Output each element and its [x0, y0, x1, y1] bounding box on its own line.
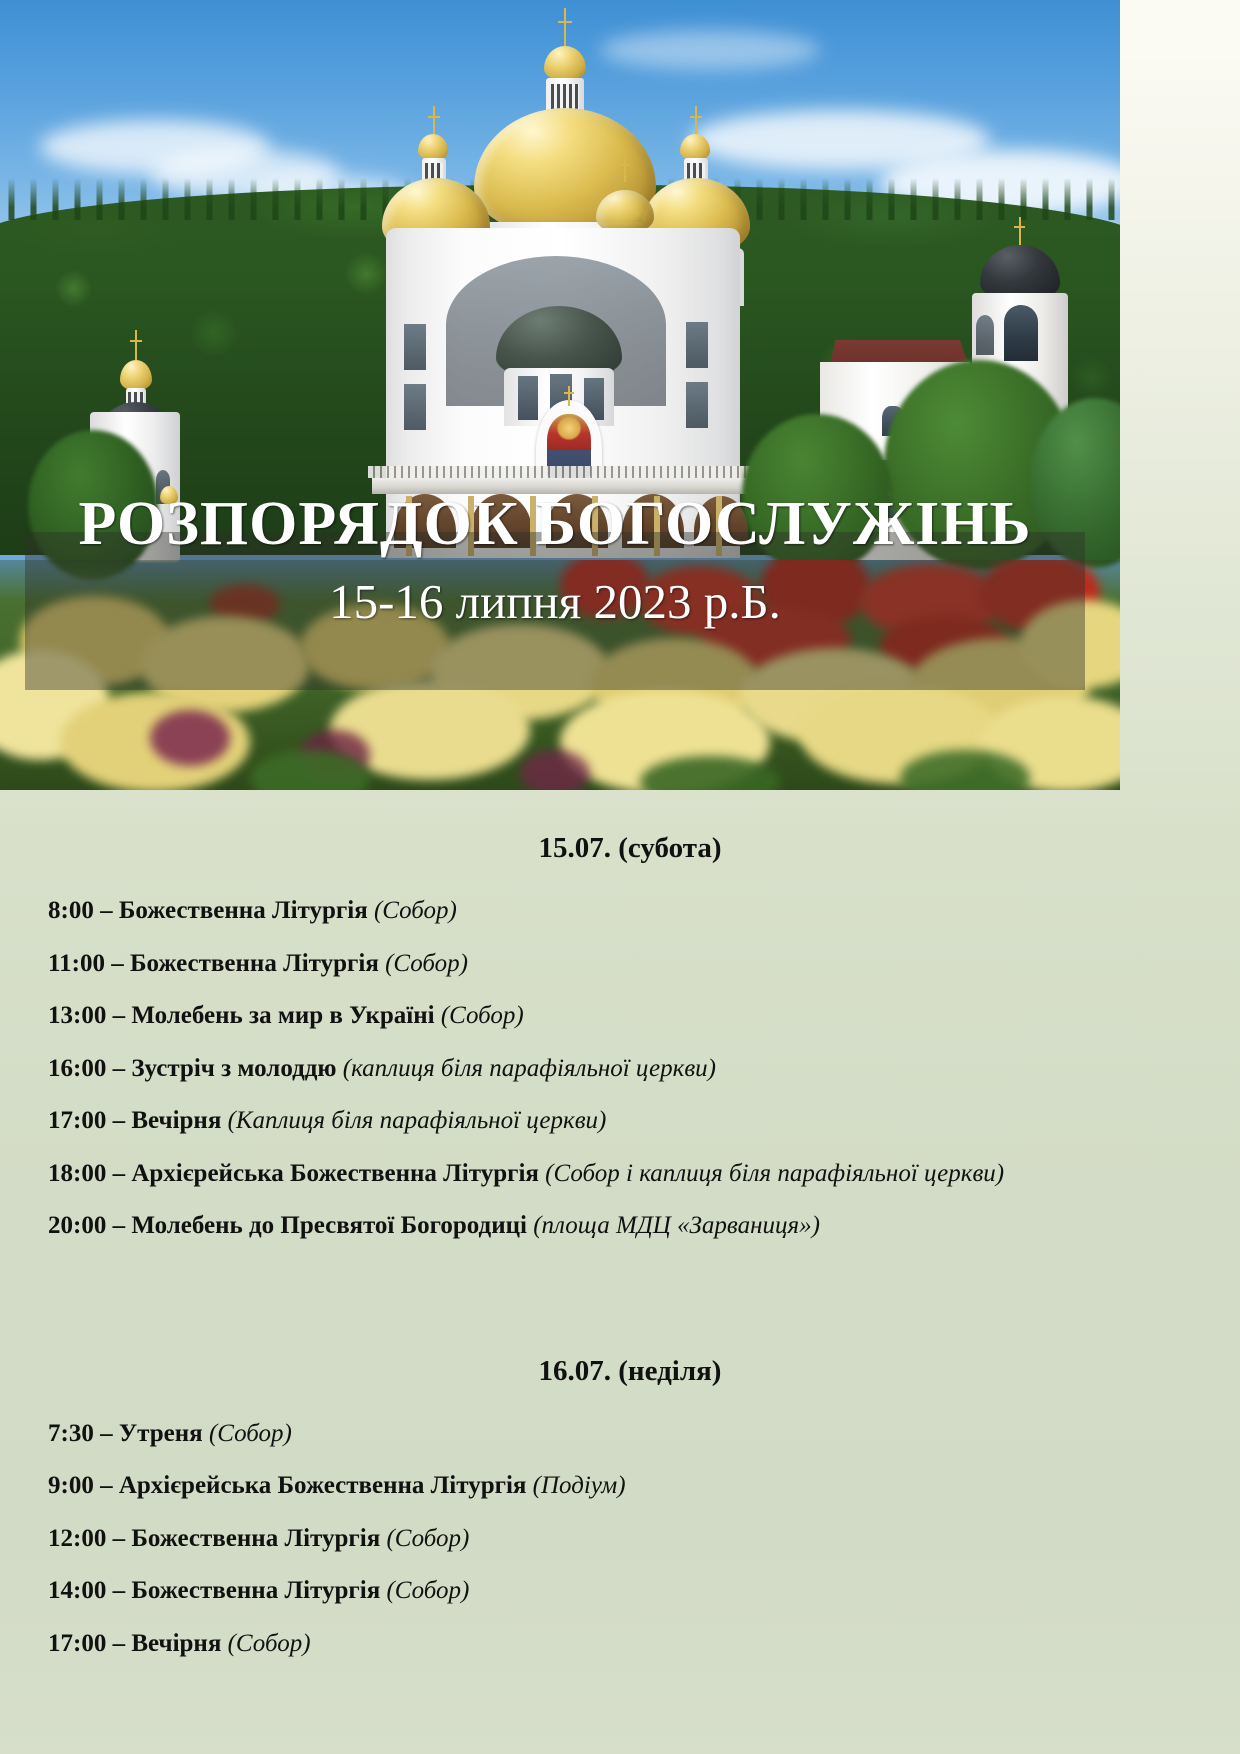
- window: [404, 384, 426, 430]
- poster-page: РОЗПОРЯДОК БОГОСЛУЖІНЬ 15-16 липня 2023 …: [0, 0, 1240, 1754]
- balustrade: [368, 466, 758, 478]
- schedule-item: 16:00 – Зустріч з молоддю (каплиця біля …: [0, 1053, 1240, 1086]
- schedule-item: 13:00 – Молебень за мир в Україні (Собор…: [0, 1000, 1240, 1033]
- schedule-item: 17:00 – Вечірня (Каплиця біля парафіяльн…: [0, 1105, 1240, 1138]
- item-event: Вечірня: [131, 1107, 221, 1134]
- item-location: (площа МДЦ «Зарваниця»): [533, 1212, 820, 1239]
- item-location: (Собор): [209, 1420, 292, 1447]
- cross-icon: [558, 8, 572, 50]
- item-location: (Собор): [386, 1577, 469, 1604]
- cupola: [418, 134, 448, 160]
- item-location: (Собор): [386, 1525, 469, 1552]
- window: [976, 315, 994, 355]
- item-dash: –: [106, 1212, 131, 1239]
- item-event: Божественна Літургія: [119, 897, 368, 924]
- item-dash: –: [106, 1577, 131, 1604]
- cross-icon: [1014, 217, 1025, 247]
- item-dash: –: [94, 1420, 119, 1447]
- item-location: (Собор): [228, 1630, 311, 1657]
- schedule-item: 11:00 – Божественна Літургія (Собор): [0, 948, 1240, 981]
- item-event: Утреня: [119, 1420, 203, 1447]
- item-dash: –: [106, 1055, 131, 1082]
- schedule-item: 12:00 – Божественна Літургія (Собор): [0, 1523, 1240, 1556]
- item-time: 17:00: [48, 1107, 106, 1134]
- schedule-list-sunday: 7:30 – Утреня (Собор) 9:00 – Архієрейськ…: [0, 1418, 1240, 1661]
- item-dash: –: [106, 1160, 131, 1187]
- item-dash: –: [94, 1472, 119, 1499]
- day-heading-sunday: 16.07. (неділя): [0, 1355, 1240, 1388]
- cross-icon: [564, 386, 574, 406]
- day-heading-saturday: 15.07. (субота): [0, 832, 1240, 865]
- window: [1004, 305, 1038, 361]
- item-location: (Собор і каплиця біля парафіяльної церкв…: [545, 1160, 1004, 1187]
- cupola: [680, 134, 710, 160]
- item-time: 18:00: [48, 1160, 106, 1187]
- item-event: Божественна Літургія: [131, 1577, 380, 1604]
- item-time: 7:30: [48, 1420, 94, 1447]
- schedule-item: 20:00 – Молебень до Пресвятої Богородиці…: [0, 1210, 1240, 1243]
- item-time: 9:00: [48, 1472, 94, 1499]
- window: [686, 322, 708, 368]
- item-location: (Каплиця біля парафіяльної церкви): [228, 1107, 607, 1134]
- schedule-item: 8:00 – Божественна Літургія (Собор): [0, 895, 1240, 928]
- item-event: Молебень до Пресвятої Богородиці: [131, 1212, 527, 1239]
- item-time: 12:00: [48, 1525, 106, 1552]
- item-event: Божественна Літургія: [130, 950, 379, 977]
- item-location: (Собор): [385, 950, 468, 977]
- window: [518, 376, 538, 420]
- schedule-item: 18:00 – Архієрейська Божественна Літургі…: [0, 1158, 1240, 1191]
- item-dash: –: [106, 1002, 131, 1029]
- item-event: Молебень за мир в Україні: [131, 1002, 434, 1029]
- item-event: Зустріч з молоддю: [131, 1055, 336, 1082]
- item-dash: –: [106, 1630, 131, 1657]
- schedule-item: 9:00 – Архієрейська Божественна Літургія…: [0, 1470, 1240, 1503]
- schedule-item: 7:30 – Утреня (Собор): [0, 1418, 1240, 1451]
- item-location: (Собор): [374, 897, 457, 924]
- item-time: 14:00: [48, 1577, 106, 1604]
- item-dash: –: [106, 1525, 131, 1552]
- item-time: 16:00: [48, 1055, 106, 1082]
- item-dash: –: [105, 950, 130, 977]
- cross-icon: [620, 156, 630, 182]
- title-overlay: РОЗПОРЯДОК БОГОСЛУЖІНЬ 15-16 липня 2023 …: [25, 532, 1085, 690]
- window: [404, 324, 426, 370]
- cathedral: [368, 60, 758, 560]
- schedule-content: 15.07. (субота) 8:00 – Божественна Літур…: [0, 790, 1240, 1660]
- item-event: Вечірня: [131, 1630, 221, 1657]
- schedule-item: 14:00 – Божественна Літургія (Собор): [0, 1575, 1240, 1608]
- item-time: 8:00: [48, 897, 94, 924]
- item-location: (Собор): [441, 1002, 524, 1029]
- item-dash: –: [94, 897, 119, 924]
- schedule-list-saturday: 8:00 – Божественна Літургія (Собор) 11:0…: [0, 895, 1240, 1243]
- cathedral-photo: РОЗПОРЯДОК БОГОСЛУЖІНЬ 15-16 липня 2023 …: [0, 0, 1120, 790]
- page-title: РОЗПОРЯДОК БОГОСЛУЖІНЬ: [78, 492, 1031, 557]
- cupola: [120, 360, 152, 390]
- schedule-item: 17:00 – Вечірня (Собор): [0, 1628, 1240, 1661]
- item-time: 11:00: [48, 950, 105, 977]
- item-time: 13:00: [48, 1002, 106, 1029]
- item-event: Божественна Літургія: [131, 1525, 380, 1552]
- window: [686, 382, 708, 428]
- cross-icon: [130, 330, 142, 364]
- page-subtitle: 15-16 липня 2023 р.Б.: [329, 573, 781, 630]
- item-location: (каплиця біля парафіяльної церкви): [343, 1055, 716, 1082]
- item-event: Архієрейська Божественна Літургія: [119, 1472, 527, 1499]
- item-time: 20:00: [48, 1212, 106, 1239]
- item-time: 17:00: [48, 1630, 106, 1657]
- item-event: Архієрейська Божественна Літургія: [131, 1160, 539, 1187]
- item-dash: –: [106, 1107, 131, 1134]
- item-location: (Подіум): [533, 1472, 626, 1499]
